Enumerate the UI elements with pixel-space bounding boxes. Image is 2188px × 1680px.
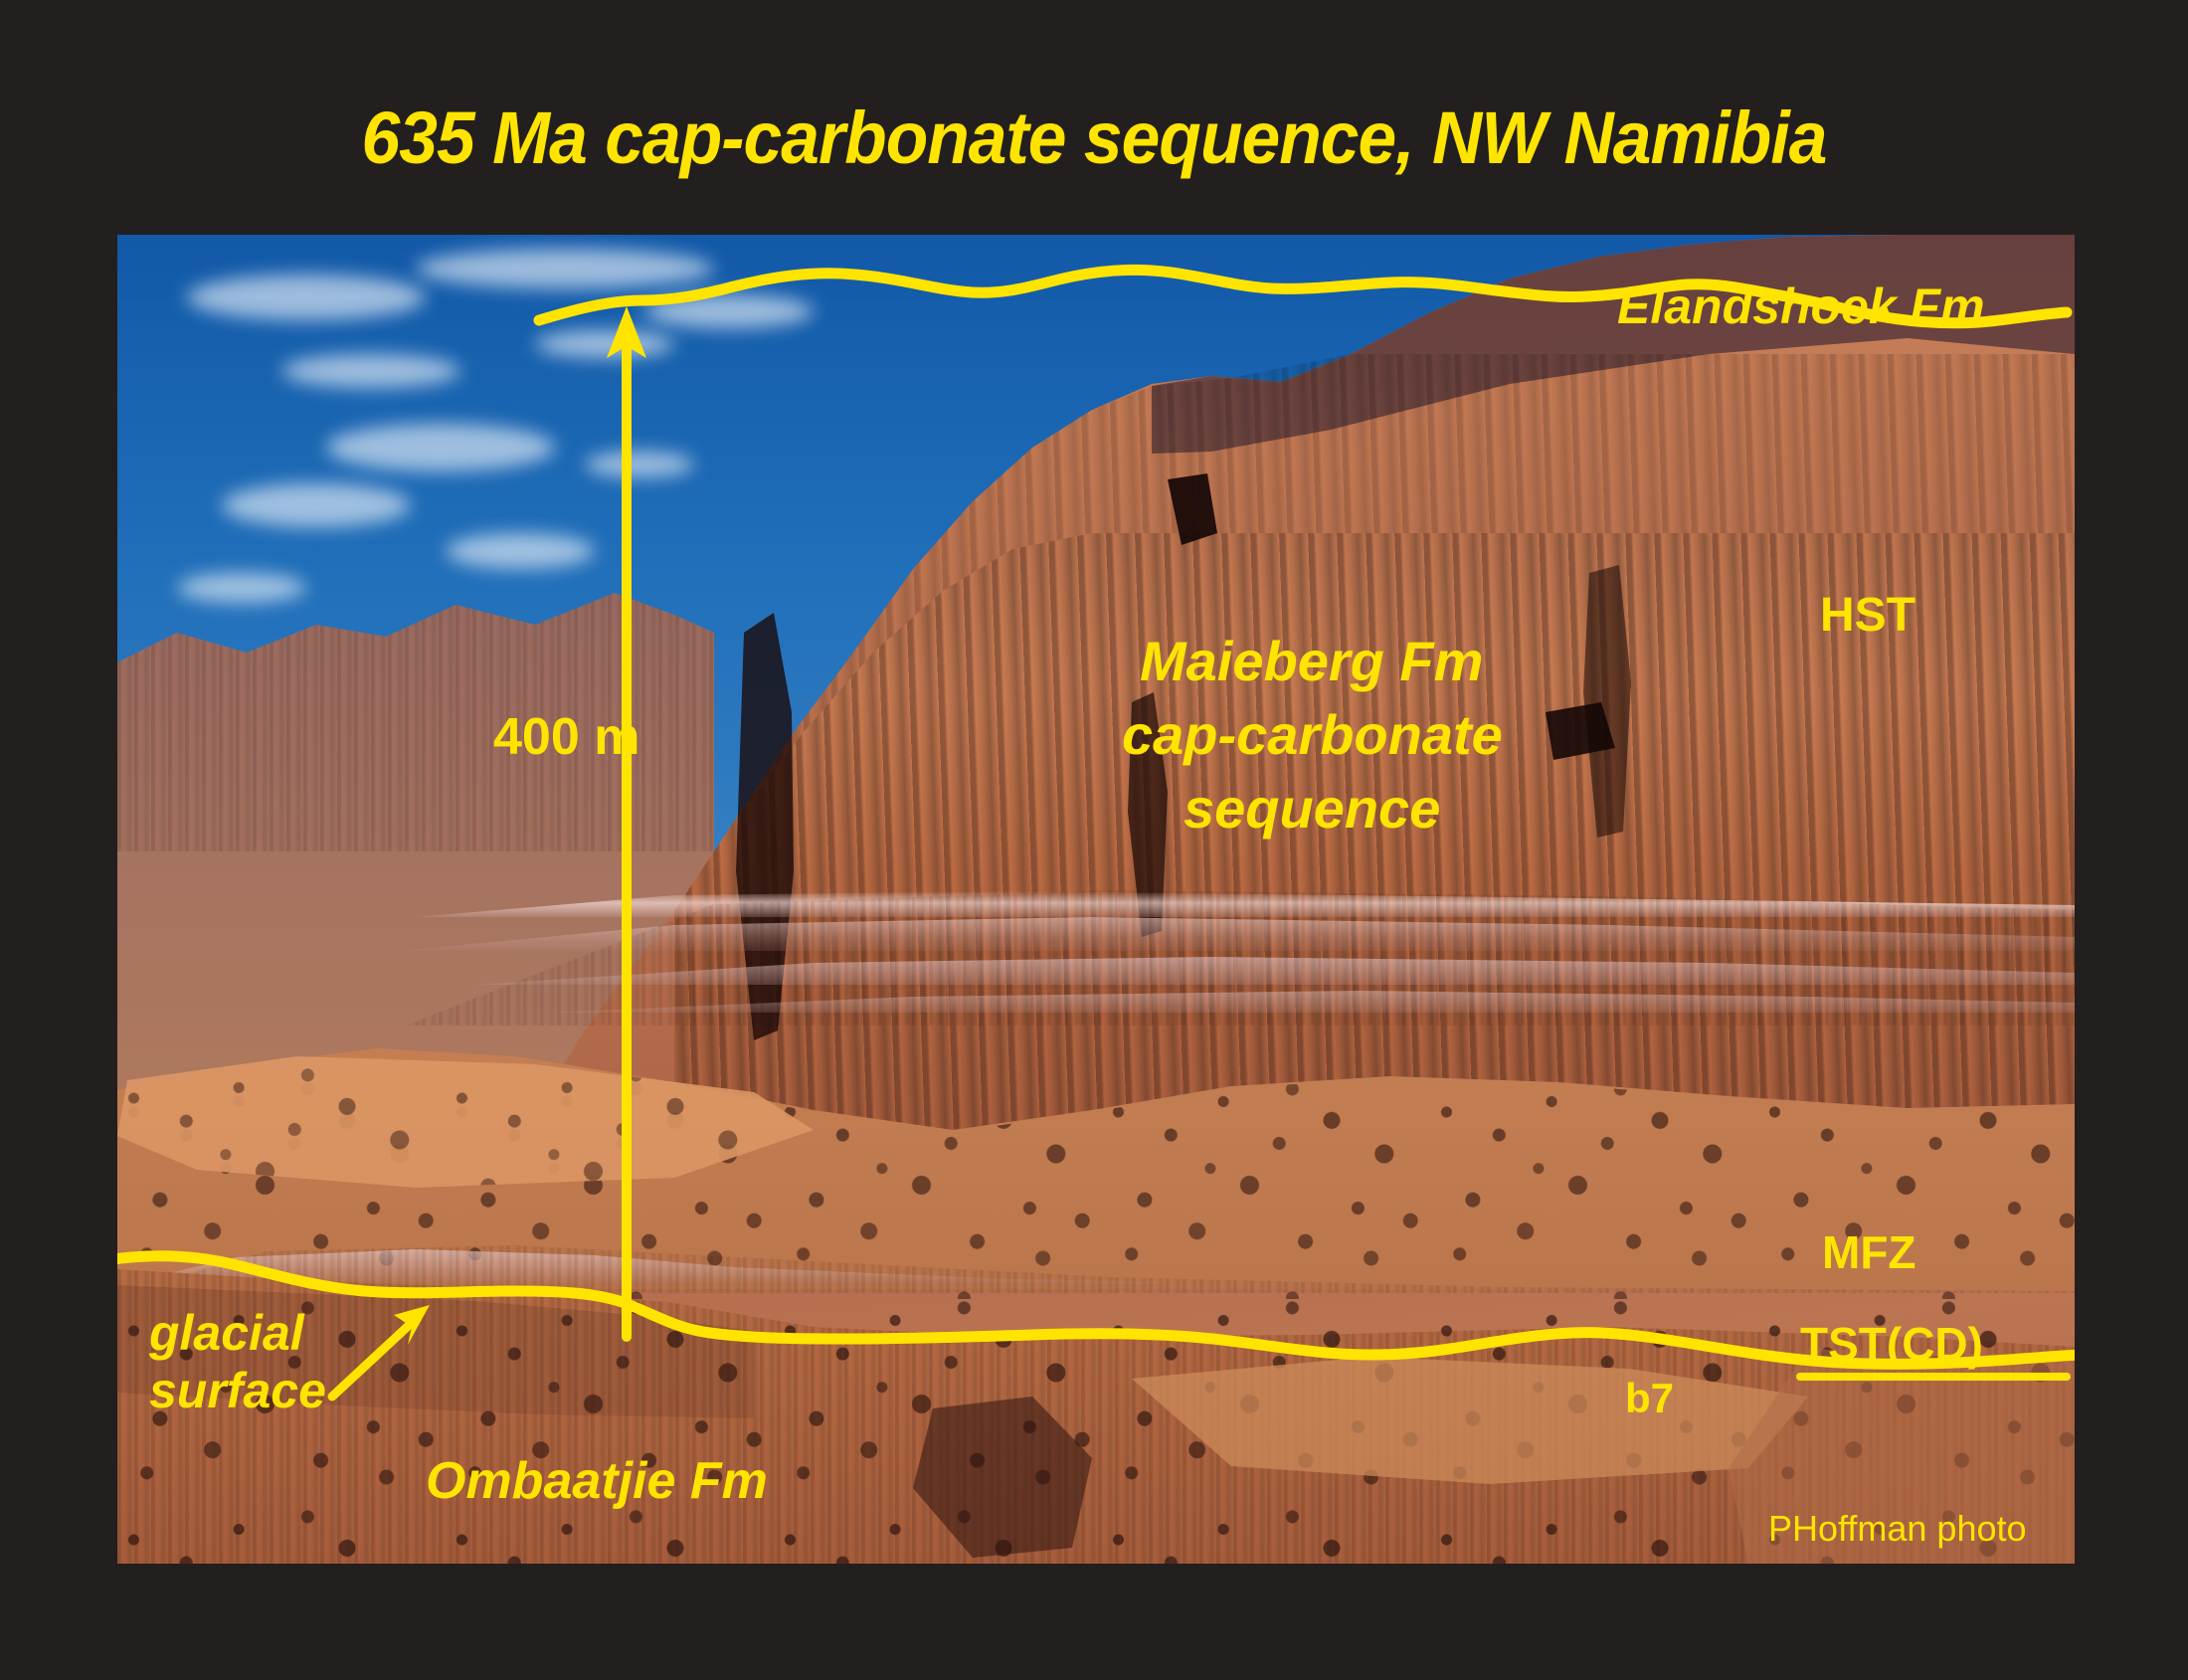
label-maieberg-fm-line2: cap-carbonate <box>1122 706 1503 764</box>
label-glacial-line2: surface <box>149 1365 326 1416</box>
cloud-5 <box>326 424 555 471</box>
cloud-2 <box>416 249 714 288</box>
outcrop-photograph: Elandshoek Fm HST Maieberg Fm cap-carbon… <box>117 235 2075 1564</box>
label-elandshoek-fm: Elandshoek Fm <box>1617 280 1985 332</box>
cloud-4 <box>535 330 674 358</box>
cloud-3 <box>281 354 460 388</box>
label-tst-cd: TST(CD) <box>1800 1321 1983 1369</box>
label-mfz: MFZ <box>1822 1229 1916 1277</box>
label-scale-400m: 400 m <box>493 710 639 764</box>
slide-canvas: 635 Ma cap-carbonate sequence, NW Namibi… <box>0 0 2188 1680</box>
photo-credit: PHoffman photo <box>1768 1508 2027 1550</box>
cloud-9 <box>585 452 694 477</box>
label-maieberg-fm-line3: sequence <box>1184 780 1440 838</box>
label-maieberg-fm-line1: Maieberg Fm <box>1140 633 1483 690</box>
cloud-1 <box>187 275 426 320</box>
page-title: 635 Ma cap-carbonate sequence, NW Namibi… <box>66 95 2122 180</box>
cloud-8 <box>177 573 306 603</box>
cloud-6 <box>222 483 411 527</box>
label-glacial-line1: glacial <box>149 1307 304 1359</box>
cloud-10 <box>644 294 814 328</box>
cloud-7 <box>446 533 595 569</box>
label-hst: HST <box>1820 591 1915 641</box>
label-b7: b7 <box>1625 1377 1674 1420</box>
label-ombaatjie-fm: Ombaatjie Fm <box>426 1454 768 1508</box>
